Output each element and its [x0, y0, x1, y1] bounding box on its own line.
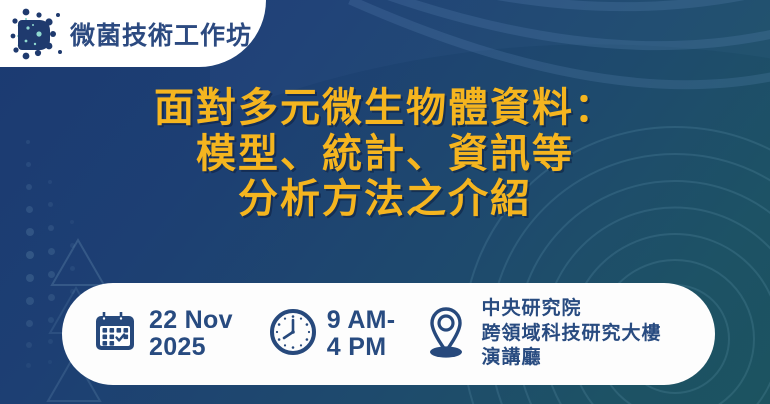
event-info-bar: 22 Nov 2025 [62, 283, 715, 385]
event-time-text: 9 AM- 4 PM [327, 307, 396, 361]
event-date-line1: 22 Nov [149, 306, 233, 334]
event-date-line2: 2025 [149, 333, 206, 361]
calendar-icon [90, 307, 140, 362]
microbe-icon [8, 6, 64, 62]
event-location-line3: 演講廳 [481, 347, 541, 368]
event-date: 22 Nov 2025 [90, 307, 233, 362]
event-location: 中央研究院 跨領域科技研究大樓 演講廳 [420, 297, 661, 371]
event-location-line1: 中央研究院 [481, 298, 581, 319]
event-location-line2: 跨領域科技研究大樓 [481, 323, 661, 344]
event-date-text: 22 Nov 2025 [149, 307, 233, 361]
workshop-title: 微菌技術工作坊 [70, 16, 252, 52]
map-pin-icon [420, 303, 472, 366]
event-time: 9 AM- 4 PM [268, 307, 396, 362]
poster-title: 面對多元微生物體資料： 模型、統計、資訊等 分析方法之介紹 [0, 86, 770, 223]
title-line-3: 分析方法之介紹 [0, 177, 770, 223]
event-time-line2: 4 PM [327, 333, 387, 361]
event-time-line1: 9 AM- [327, 306, 396, 334]
title-line-2: 模型、統計、資訊等 [0, 132, 770, 178]
poster-canvas: 微菌技術工作坊 面對多元微生物體資料： 模型、統計、資訊等 分析方法之介紹 [0, 0, 770, 404]
title-line-1: 面對多元微生物體資料： [0, 86, 770, 132]
clock-icon [268, 307, 318, 362]
header-badge: 微菌技術工作坊 [0, 0, 266, 67]
event-location-text: 中央研究院 跨領域科技研究大樓 演講廳 [481, 297, 661, 371]
